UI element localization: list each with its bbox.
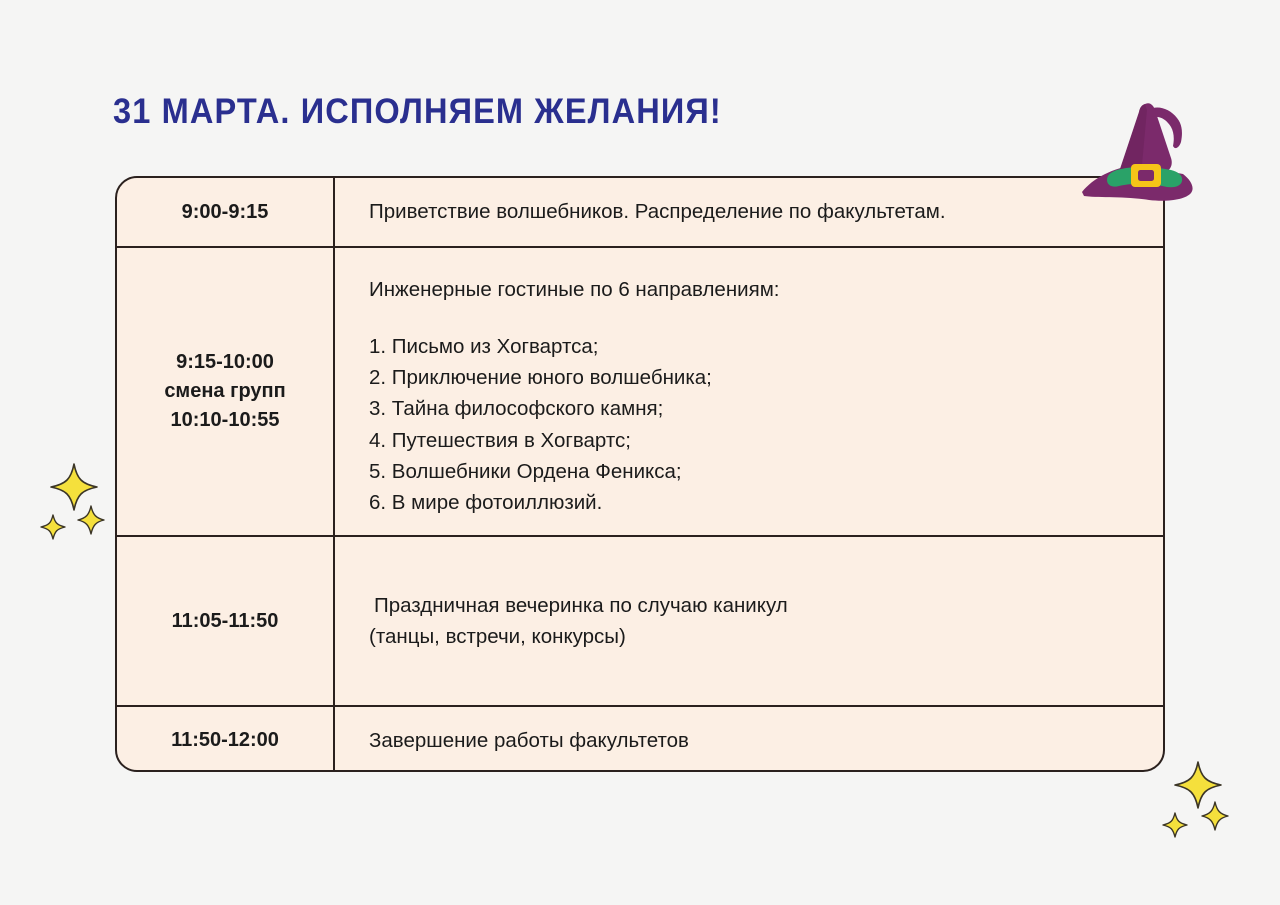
description-line-1: Праздничная вечеринка по случаю каникул (369, 590, 1137, 621)
description-text: Приветствие волшебников. Распределение п… (369, 196, 1137, 227)
list-item: 4. Путешествия в Хогвартс; (369, 425, 1137, 456)
time-label: 9:00-9:15 (182, 198, 269, 227)
direction-list: 1. Письмо из Хогвартса; 2. Приключение ю… (369, 331, 1137, 518)
poster-canvas: 31 МАРТА. ИСПОЛНЯЕМ ЖЕЛАНИЯ! 9:00-9:15 П… (0, 0, 1280, 905)
time-label-line-1: 9:15-10:00 (176, 348, 274, 377)
time-label: 11:05-11:50 (172, 607, 279, 636)
time-cell: 9:00-9:15 (117, 178, 335, 246)
schedule-table: 9:00-9:15 Приветствие волшебников. Распр… (115, 176, 1165, 772)
description-line-2: (танцы, встречи, конкурсы) (369, 621, 1137, 652)
description-cell: Праздничная вечеринка по случаю каникул … (335, 537, 1163, 705)
description-cell: Завершение работы факультетов (335, 707, 1163, 772)
table-row: 11:50-12:00 Завершение работы факультето… (117, 707, 1163, 772)
time-label-line-2: смена групп (164, 377, 285, 406)
list-item: 1. Письмо из Хогвартса; (369, 331, 1137, 362)
list-item: 3. Тайна философского камня; (369, 393, 1137, 424)
description-heading: Инженерные гостиные по 6 направлениям: (369, 274, 1137, 305)
table-row: 9:00-9:15 Приветствие волшебников. Распр… (117, 178, 1163, 248)
list-item: 6. В мире фотоиллюзий. (369, 487, 1137, 518)
sparkle-icon (36, 458, 108, 540)
time-cell: 11:05-11:50 (117, 537, 335, 705)
list-item: 2. Приключение юного волшебника; (369, 362, 1137, 393)
description-text: Завершение работы факультетов (369, 725, 1137, 756)
time-label: 11:50-12:00 (171, 726, 279, 755)
description-cell: Инженерные гостиные по 6 направлениям: 1… (335, 248, 1163, 535)
time-label-line-3: 10:10-10:55 (171, 406, 280, 435)
sparkle-icon (1158, 758, 1250, 840)
list-item: 5. Волшебники Ордена Феникса; (369, 456, 1137, 487)
page-title: 31 МАРТА. ИСПОЛНЯЕМ ЖЕЛАНИЯ! (113, 92, 722, 132)
time-cell: 9:15-10:00 смена групп 10:10-10:55 (117, 248, 335, 535)
description-cell: Приветствие волшебников. Распределение п… (335, 178, 1163, 246)
table-row: 9:15-10:00 смена групп 10:10-10:55 Инжен… (117, 248, 1163, 537)
spacer (369, 305, 1137, 331)
table-row: 11:05-11:50 Праздничная вечеринка по слу… (117, 537, 1163, 707)
time-cell: 11:50-12:00 (117, 707, 335, 772)
